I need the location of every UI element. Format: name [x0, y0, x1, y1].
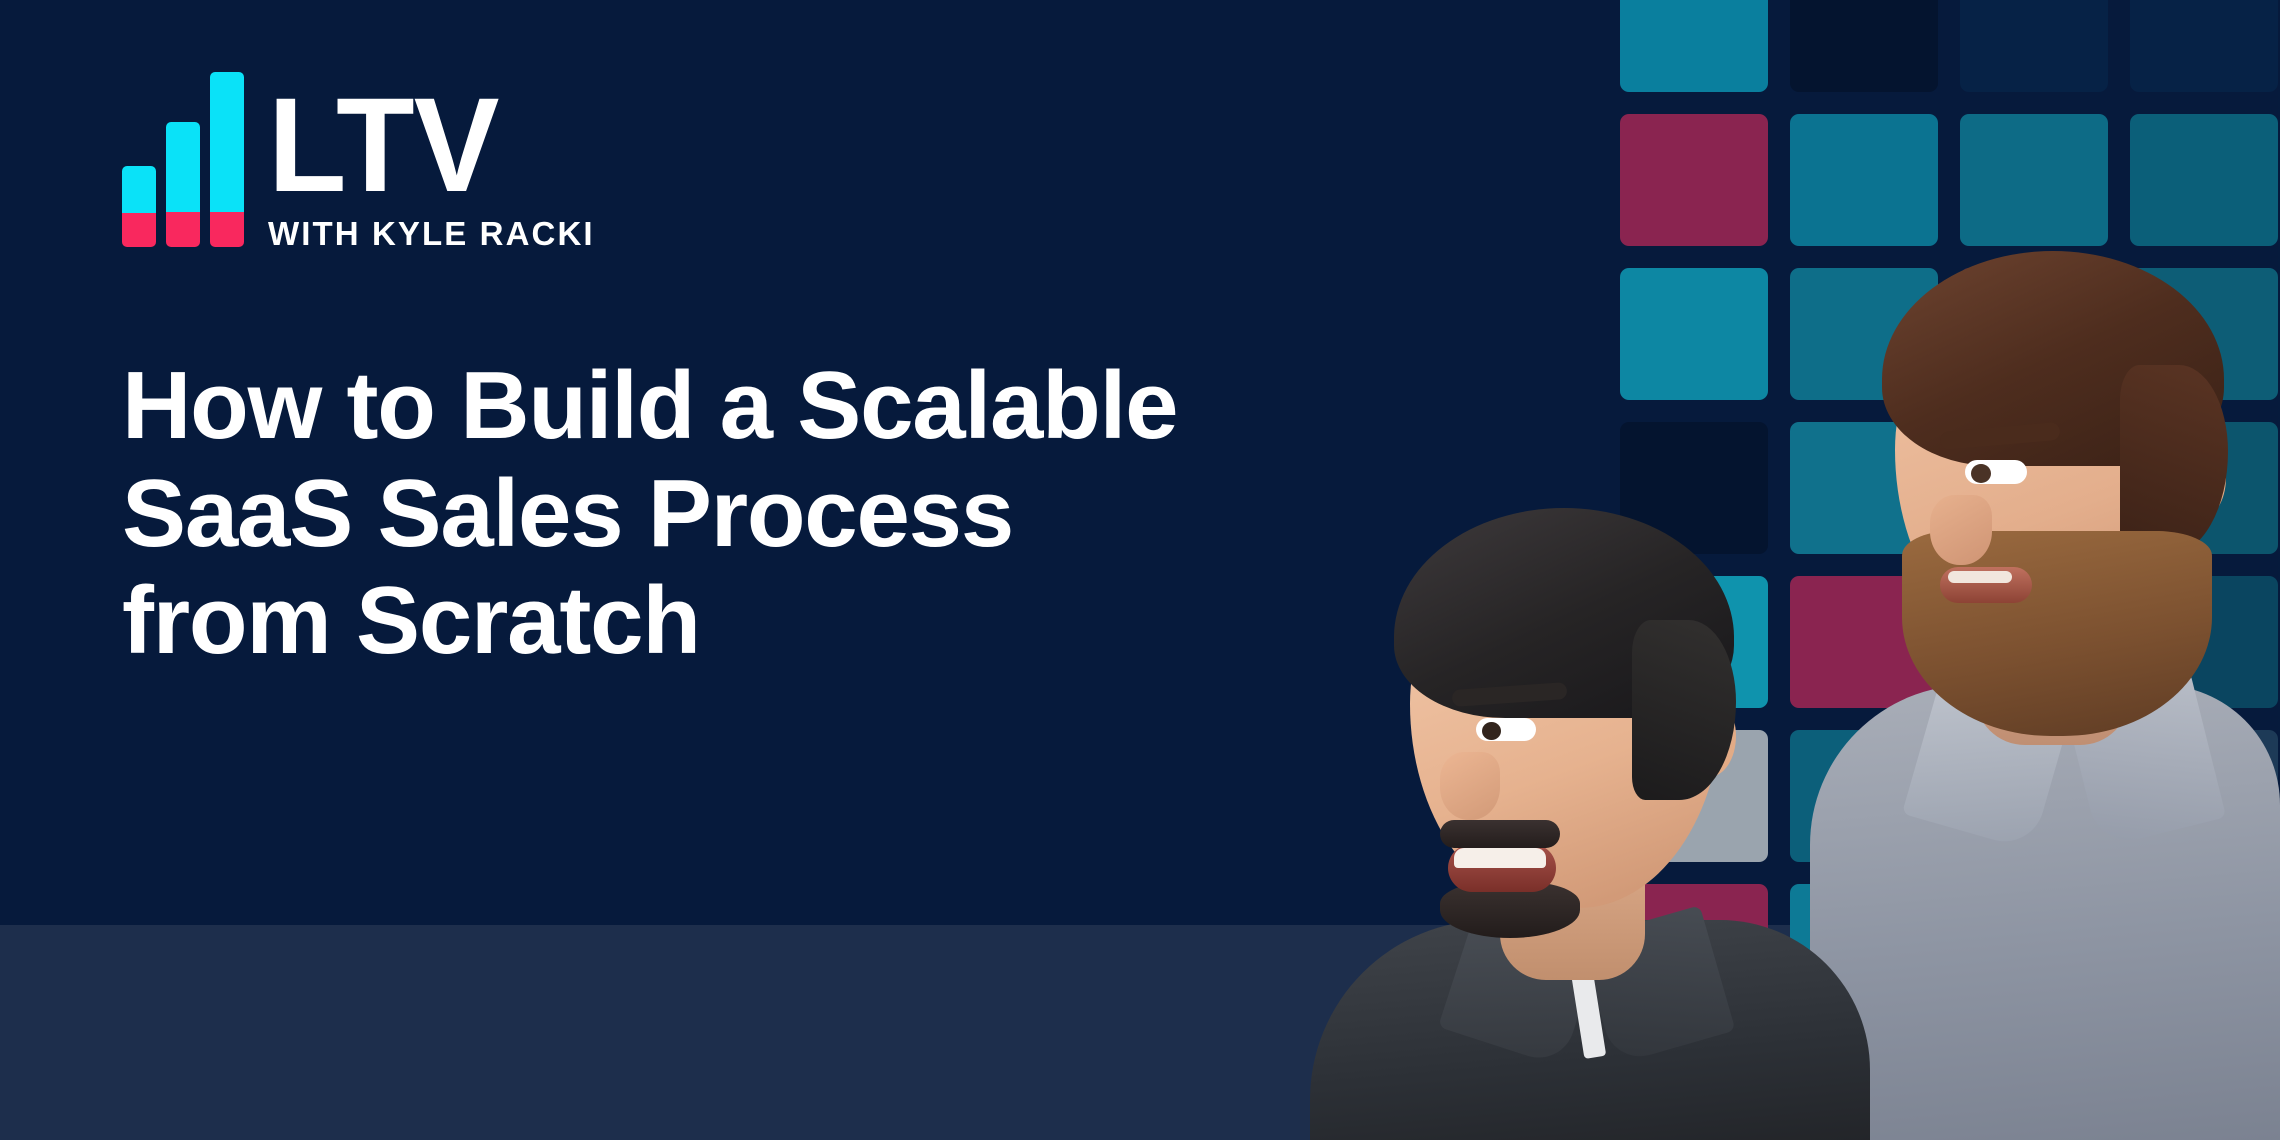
ltv-logo-lockup[interactable]: LTV WITH KYLE RACKI	[122, 78, 595, 247]
host-right-teeth	[1948, 571, 2012, 583]
logo-tagline: WITH KYLE RACKI	[268, 215, 595, 253]
bar-chart-logo-icon	[122, 115, 244, 247]
logo-wordmark-group: LTV WITH KYLE RACKI	[268, 84, 595, 253]
logo-bar-medium-bottom	[166, 212, 200, 247]
logo-bar-small-top	[122, 166, 156, 213]
page-title: How to Build a Scalable SaaS Sales Proce…	[122, 352, 1542, 675]
logo-wordmark: LTV	[268, 84, 582, 207]
host-right-pupil	[1971, 464, 1991, 483]
host-left-teeth	[1454, 848, 1546, 868]
host-left-nose	[1440, 752, 1500, 820]
mosaic-tile	[1620, 268, 1768, 400]
host-left-moustache	[1440, 820, 1560, 848]
host-right-hair-side	[2120, 365, 2228, 555]
mosaic-tile	[2130, 0, 2278, 92]
page-title-line-3: from Scratch	[122, 567, 1542, 675]
logo-bar-medium-top	[166, 122, 200, 212]
mosaic-tile	[1620, 0, 1768, 92]
logo-bar-small	[122, 166, 156, 247]
episode-thumbnail: LTV WITH KYLE RACKI How to Build a Scala…	[0, 0, 2280, 1140]
logo-bar-large-top	[210, 72, 244, 212]
mosaic-tile	[1620, 114, 1768, 246]
mosaic-tile	[1790, 0, 1938, 92]
logo-bar-large-bottom	[210, 212, 244, 247]
page-title-line-2: SaaS Sales Process	[122, 460, 1542, 568]
host-left-pupil	[1482, 722, 1501, 740]
page-title-line-1: How to Build a Scalable	[122, 352, 1542, 460]
logo-bar-medium	[166, 122, 200, 247]
mosaic-tile	[1960, 0, 2108, 92]
host-right-nose	[1930, 495, 1992, 565]
logo-bar-large	[210, 72, 244, 247]
logo-bar-small-bottom	[122, 213, 156, 247]
